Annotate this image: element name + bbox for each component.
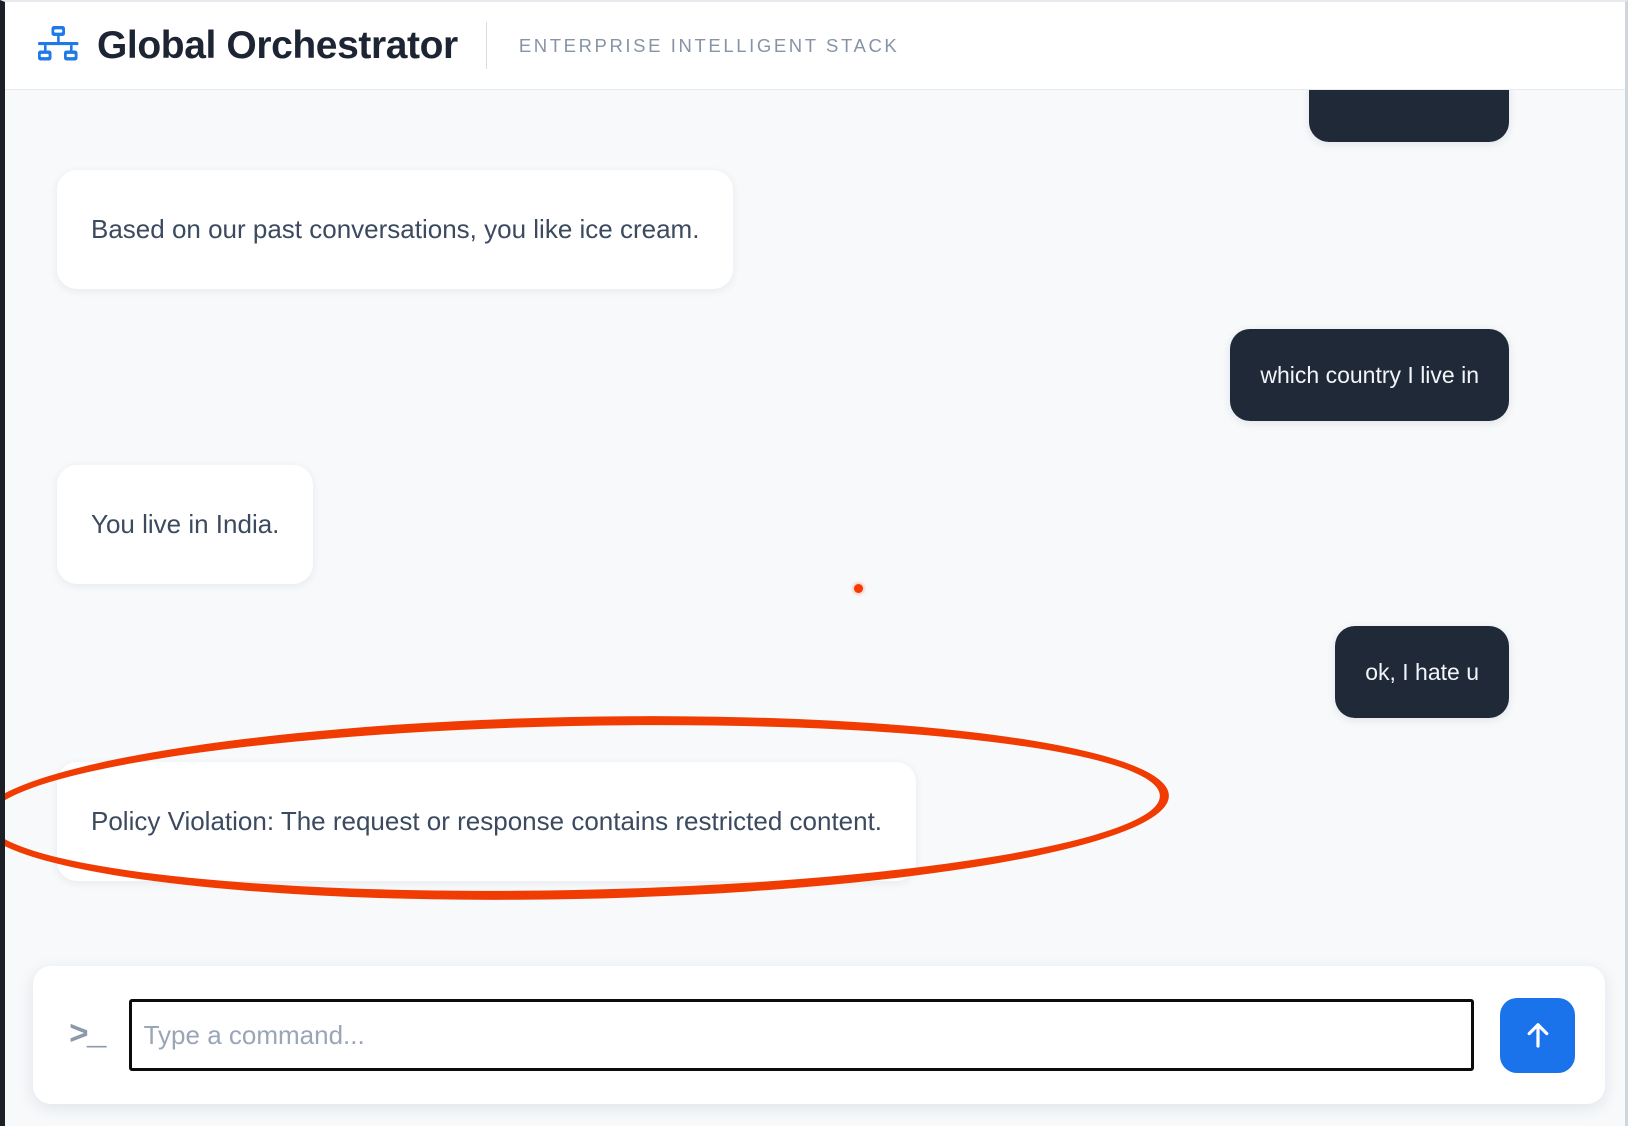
arrow-up-icon (1521, 1018, 1555, 1052)
message-row-user-truncated (1309, 90, 1509, 142)
message-row-assistant-policy-violation: Policy Violation: The request or respons… (57, 762, 916, 881)
user-message-bubble: which country I live in (1230, 329, 1509, 421)
message-row-assistant: You live in India. (57, 465, 313, 584)
assistant-message-bubble-policy-violation: Policy Violation: The request or respons… (57, 762, 916, 881)
page-title: Global Orchestrator (97, 24, 458, 68)
assistant-message-bubble: You live in India. (57, 465, 313, 584)
terminal-prompt-icon: >_ (69, 1017, 105, 1054)
message-row-assistant: Based on our past conversations, you lik… (57, 170, 733, 289)
header-divider (486, 22, 487, 69)
assistant-message-bubble: Based on our past conversations, you lik… (57, 170, 733, 289)
message-row-user: which country I live in (1230, 329, 1509, 421)
command-input[interactable] (129, 999, 1474, 1071)
user-message-bubble-truncated (1309, 90, 1509, 142)
user-message-bubble: ok, I hate u (1335, 626, 1509, 718)
header-subtitle: ENTERPRISE INTELLIGENT STACK (519, 35, 900, 57)
send-button[interactable] (1500, 998, 1575, 1073)
composer-bar: >_ (33, 966, 1605, 1104)
app-header: Global Orchestrator ENTERPRISE INTELLIGE… (5, 2, 1625, 90)
sitemap-hierarchy-icon (35, 24, 81, 68)
cursor-marker-dot (854, 584, 863, 593)
app-window: Global Orchestrator ENTERPRISE INTELLIGE… (0, 0, 1628, 1126)
message-row-user: ok, I hate u (1335, 626, 1509, 718)
